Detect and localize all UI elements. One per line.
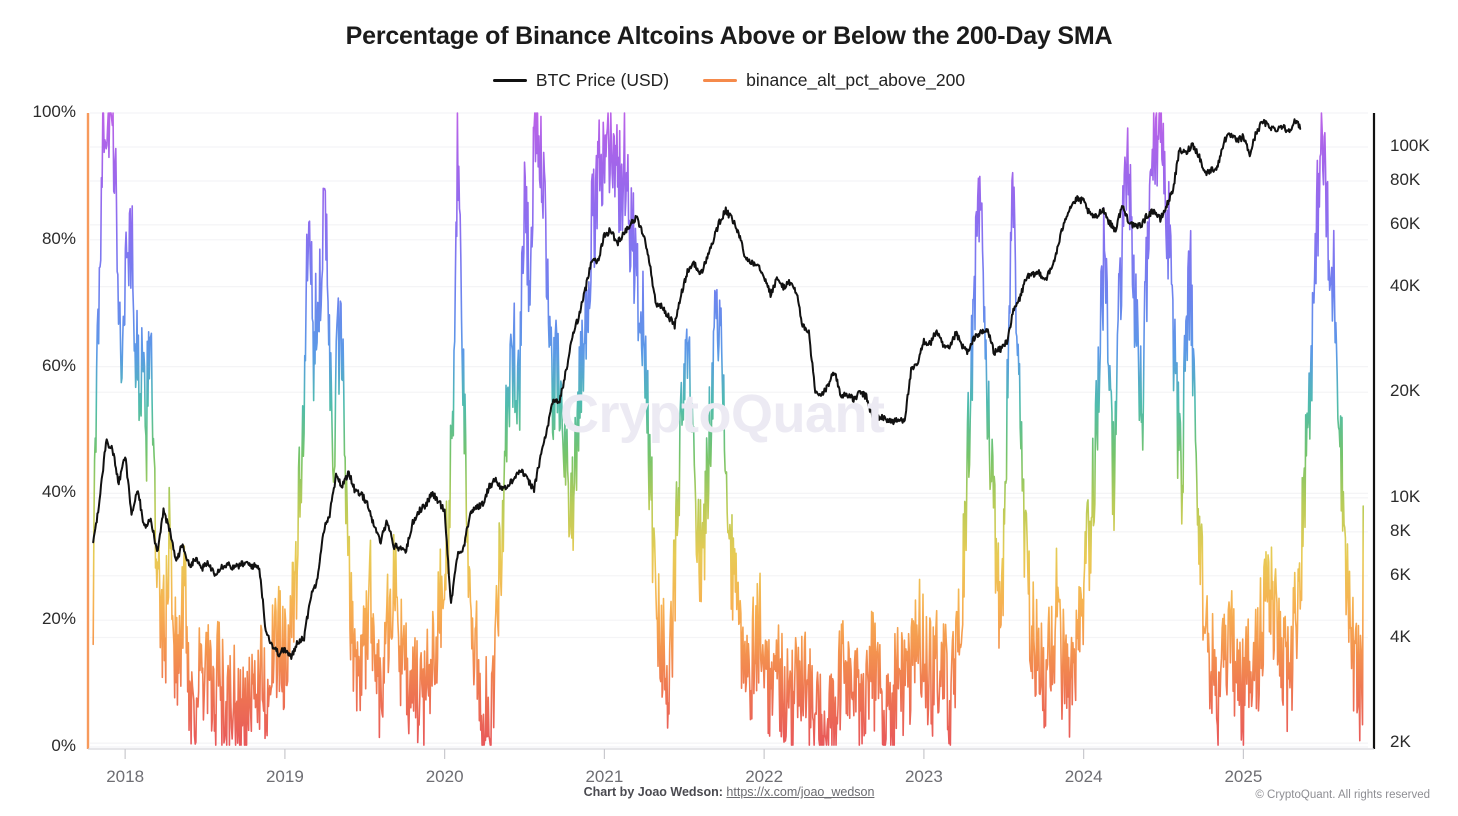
x-axis-tick-2020: 2020 [405,767,485,787]
y-axis-left-tick-80pct: 80% [8,229,76,249]
y-axis-right-tick-10K: 10K [1390,487,1458,507]
y-axis-right-tick-60K: 60K [1390,214,1458,234]
footer-credit-link[interactable]: https://x.com/joao_wedson [726,785,874,799]
legend-item-btc-price[interactable]: BTC Price (USD) [493,70,669,91]
chart-root: Percentage of Binance Altcoins Above or … [0,0,1458,816]
page-title: Percentage of Binance Altcoins Above or … [0,22,1458,51]
legend-item-alt-pct[interactable]: binance_alt_pct_above_200 [703,70,965,91]
series-btc-price [93,119,1300,659]
y-axis-left-tick-20pct: 20% [8,609,76,629]
x-axis-tick-2018: 2018 [85,767,165,787]
y-axis-left-tick-0pct: 0% [8,736,76,756]
footer-credit: Chart by Joao Wedson: https://x.com/joao… [0,785,1458,799]
y-axis-left-tick-60pct: 60% [8,356,76,376]
y-axis-right-tick-8K: 8K [1390,521,1458,541]
legend-label-btc: BTC Price (USD) [536,70,669,91]
y-axis-left-tick-40pct: 40% [8,482,76,502]
x-axis-tick-2019: 2019 [245,767,325,787]
legend-label-alt: binance_alt_pct_above_200 [746,70,965,91]
footer-credit-prefix: Chart by Joao Wedson: [584,785,723,799]
y-axis-right-tick-100K: 100K [1390,136,1458,156]
x-axis-tick-2025: 2025 [1203,767,1283,787]
y-axis-right-tick-20K: 20K [1390,381,1458,401]
legend-swatch-btc [493,79,527,82]
x-axis-tick-2021: 2021 [564,767,644,787]
y-axis-right-tick-4K: 4K [1390,627,1458,647]
y-axis-right-tick-2K: 2K [1390,732,1458,752]
y-axis-right-tick-6K: 6K [1390,565,1458,585]
plot-canvas [0,0,1458,816]
x-axis-tick-2024: 2024 [1044,767,1124,787]
footer-copyright: © CryptoQuant. All rights reserved [1255,789,1430,801]
chart-legend: BTC Price (USD) binance_alt_pct_above_20… [0,70,1458,91]
y-axis-right-tick-40K: 40K [1390,276,1458,296]
x-axis-tick-2022: 2022 [724,767,804,787]
legend-swatch-alt [703,79,737,82]
y-axis-right-tick-80K: 80K [1390,170,1458,190]
y-axis-left-tick-100pct: 100% [8,102,76,122]
x-axis-tick-2023: 2023 [884,767,964,787]
